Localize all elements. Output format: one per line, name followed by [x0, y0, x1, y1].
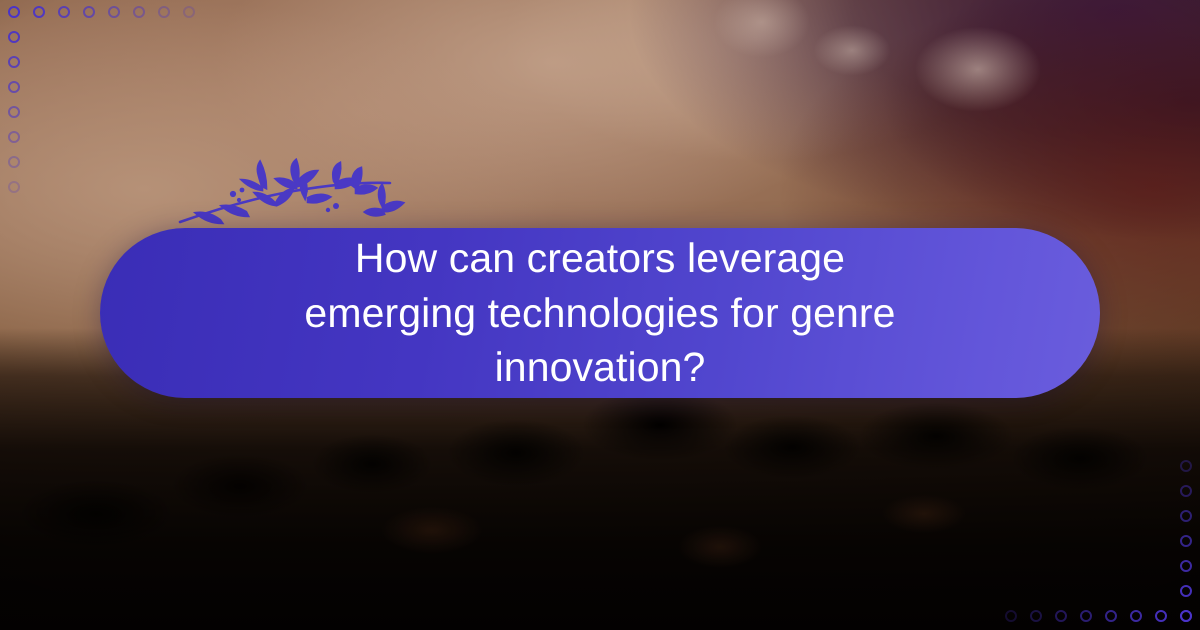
decorative-dot	[133, 6, 145, 18]
headline-pill: How can creators leverage emerging techn…	[100, 228, 1100, 398]
decorative-dot	[183, 6, 195, 18]
decorative-dot	[1180, 535, 1192, 547]
decorative-dot	[158, 6, 170, 18]
decorative-dot	[1180, 560, 1192, 572]
decorative-dot	[8, 131, 20, 143]
decorative-dot	[8, 156, 20, 168]
decorative-dot	[1180, 585, 1192, 597]
decorative-dot	[8, 181, 20, 193]
decorative-dot	[1030, 610, 1042, 622]
dot-grid-bottom-right-column	[1180, 435, 1192, 622]
dot-grid-top-left-column	[8, 6, 20, 193]
decorative-dot	[1155, 610, 1167, 622]
poster-canvas: How can creators leverage emerging techn…	[0, 0, 1200, 630]
decorative-dot	[1005, 610, 1017, 622]
decorative-dot	[108, 6, 120, 18]
decorative-dot	[58, 6, 70, 18]
decorative-dot	[1105, 610, 1117, 622]
decorative-dot	[8, 56, 20, 68]
decorative-dot	[8, 31, 20, 43]
dot-grid-bottom-right-row	[1005, 610, 1192, 622]
decorative-dot	[8, 106, 20, 118]
dot-grid-top-left-row	[8, 6, 195, 18]
decorative-dot	[1180, 510, 1192, 522]
decorative-dot	[33, 6, 45, 18]
decorative-dot	[1180, 460, 1192, 472]
decorative-dot	[8, 81, 20, 93]
decorative-dot	[83, 6, 95, 18]
decorative-dot	[1180, 485, 1192, 497]
decorative-dot	[1180, 610, 1192, 622]
page-title: How can creators leverage emerging techn…	[250, 231, 950, 396]
decorative-dot	[1080, 610, 1092, 622]
decorative-dot	[1055, 610, 1067, 622]
decorative-dot	[1130, 610, 1142, 622]
